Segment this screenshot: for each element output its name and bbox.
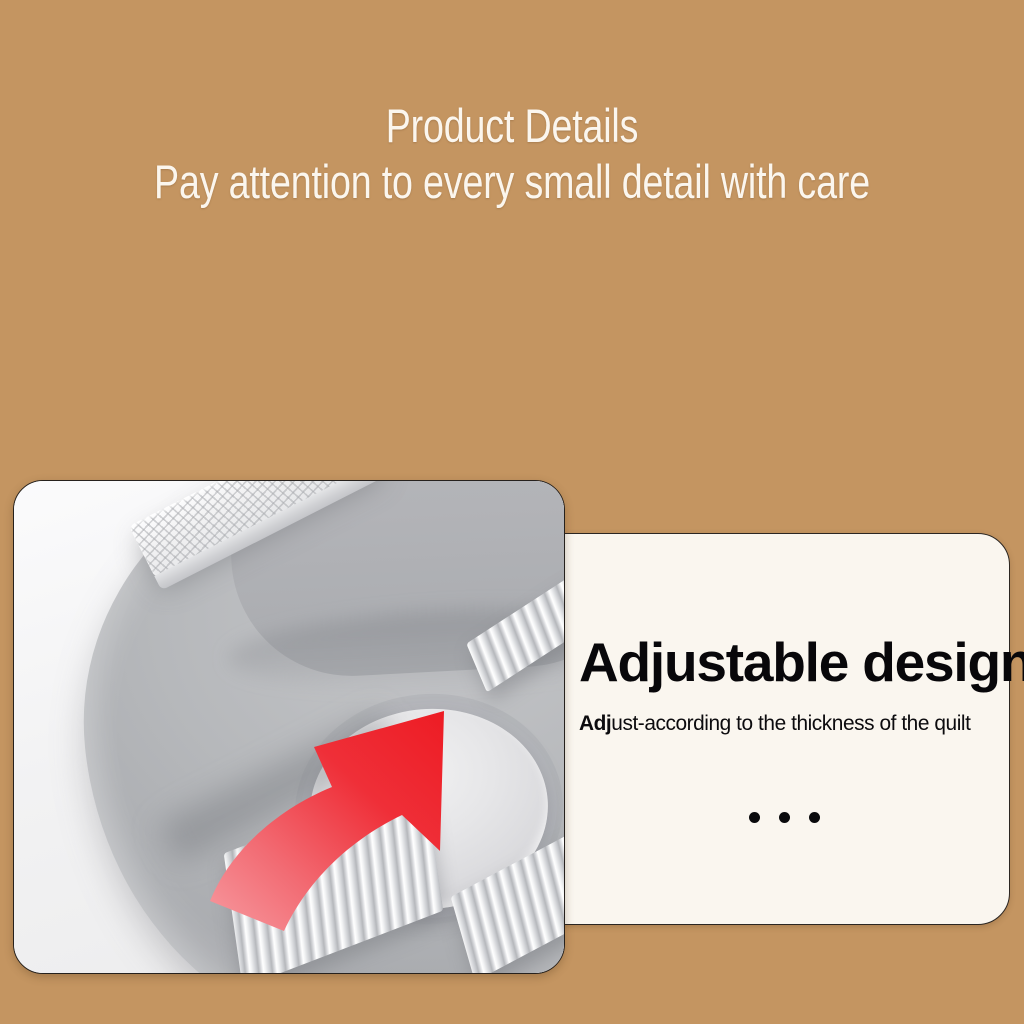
page-header: Product Details Pay attention to every s… [0,98,1024,210]
feature-card-text: Adjustable design Adjust-according to th… [579,632,999,736]
pagination-dot-3[interactable] [809,812,820,823]
product-details-page: Product Details Pay attention to every s… [0,0,1024,1024]
pagination-dot-1[interactable] [749,812,760,823]
feature-card-description-emphasis: Adj [579,711,611,735]
feature-card-description: Adjust-according to the thickness of the… [579,710,986,736]
feature-card-heading: Adjustable design [579,632,999,692]
page-subtitle: Pay attention to every small detail with… [102,154,921,210]
product-photo-panel [13,480,565,974]
pagination-dots[interactable] [749,812,820,823]
pagination-dot-2[interactable] [779,812,790,823]
feature-card-description-rest: ust-according to the thickness of the qu… [611,711,970,735]
page-title: Product Details [102,98,921,154]
product-photo [14,481,564,973]
